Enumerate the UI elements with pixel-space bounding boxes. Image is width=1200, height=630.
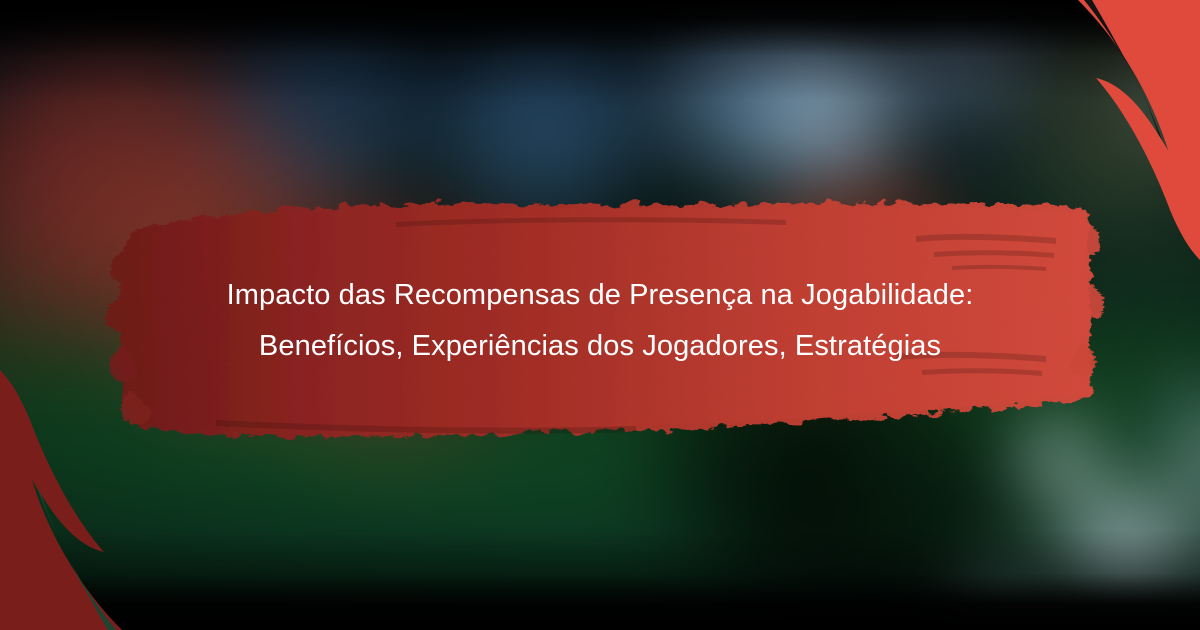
title-line-1: Impacto das Recompensas de Presença na J… xyxy=(150,270,1050,321)
title-line-2: Benefícios, Experiências dos Jogadores, … xyxy=(150,321,1050,372)
social-share-card: Impacto das Recompensas de Presença na J… xyxy=(0,0,1200,630)
page-title: Impacto das Recompensas de Presença na J… xyxy=(150,270,1050,372)
